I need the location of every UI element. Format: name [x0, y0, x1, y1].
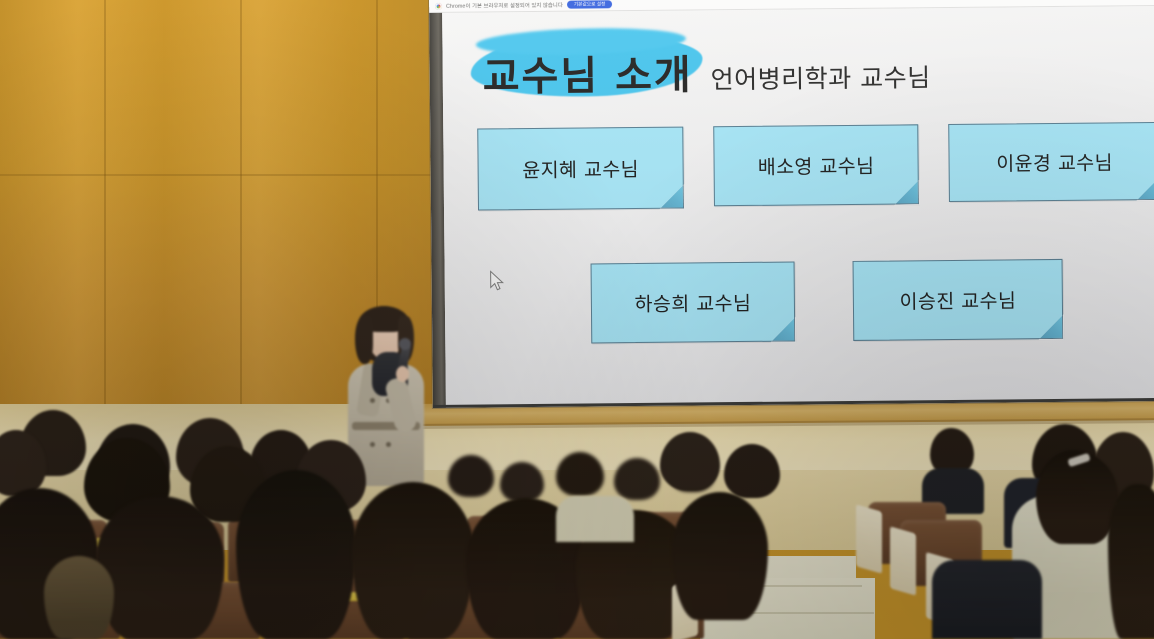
professor-name: 이윤경 교수님 [996, 146, 1113, 176]
mouse-pointer-icon [490, 270, 505, 292]
audience-torso [556, 496, 634, 542]
audience-head [448, 455, 494, 497]
notification-message: Chrome이 기본 브라우저로 설정되어 있지 않습니다 [446, 1, 563, 10]
folded-corner-icon [771, 318, 795, 342]
professor-name: 이승진 교수님 [899, 284, 1016, 314]
professor-name: 윤지혜 교수님 [522, 152, 639, 182]
folded-corner-icon [660, 185, 684, 209]
lecture-hall-photo: Chrome이 기본 브라우저로 설정되어 있지 않습니다 기본값으로 설정 교… [0, 0, 1154, 639]
coat-button [370, 398, 375, 403]
professor-card[interactable]: 윤지혜 교수님 [477, 127, 684, 211]
wall-seam [104, 0, 106, 412]
professor-card[interactable]: 이승진 교수님 [853, 259, 1064, 341]
coat-button [386, 442, 391, 447]
audience-head [724, 444, 780, 498]
professor-box-row-1: 윤지혜 교수님 배소영 교수님 이윤경 교수님 [477, 122, 1154, 211]
wall-seam [240, 0, 242, 412]
slide-subtitle: 언어병리학과 교수님 [711, 58, 931, 96]
chrome-icon [435, 2, 442, 9]
projection-screen[interactable]: Chrome이 기본 브라우저로 설정되어 있지 않습니다 기본값으로 설정 교… [429, 0, 1154, 408]
audience-head [660, 432, 720, 490]
professor-card[interactable]: 이윤경 교수님 [948, 122, 1154, 202]
presenter-hair-side [355, 316, 373, 364]
audience-head [556, 452, 604, 496]
professor-box-row-2: 하승희 교수님 이승진 교수님 [591, 259, 1064, 344]
professor-name: 하승희 교수님 [634, 286, 751, 316]
professor-card[interactable]: 배소영 교수님 [713, 124, 919, 206]
set-as-default-button[interactable]: 기본값으로 설정 [567, 0, 613, 9]
audience-head-foreground [236, 470, 356, 639]
audience-head-foreground [96, 496, 224, 639]
microphone-head [399, 338, 411, 350]
page-title: 교수님 소개 [482, 42, 692, 102]
seat-armrest [856, 504, 882, 573]
folded-corner-icon [895, 180, 919, 204]
audience-head-foreground [1036, 452, 1118, 544]
folded-corner-icon [1039, 315, 1063, 339]
slide-title-wrap: 교수님 소개 [482, 42, 692, 102]
audience-head-foreground [352, 482, 474, 639]
coat-button [370, 442, 375, 447]
professor-card[interactable]: 하승희 교수님 [591, 262, 796, 344]
audience-head-foreground [44, 556, 114, 639]
audience-head-foreground [1108, 484, 1154, 639]
audience-head-foreground [672, 492, 768, 620]
slide-title-row: 교수님 소개 언어병리학과 교수님 [482, 40, 930, 102]
wall-seam [0, 174, 432, 176]
presentation-slide: 교수님 소개 언어병리학과 교수님 윤지혜 교수님 배소영 교수님 이윤경 교수… [442, 6, 1154, 405]
professor-name: 배소영 교수님 [758, 149, 875, 179]
audience-torso [932, 560, 1042, 639]
presenter-hand [396, 366, 409, 382]
seat-armrest [890, 526, 916, 595]
audience-head [614, 458, 660, 500]
audience-head [500, 462, 544, 502]
folded-corner-icon [1137, 176, 1154, 200]
